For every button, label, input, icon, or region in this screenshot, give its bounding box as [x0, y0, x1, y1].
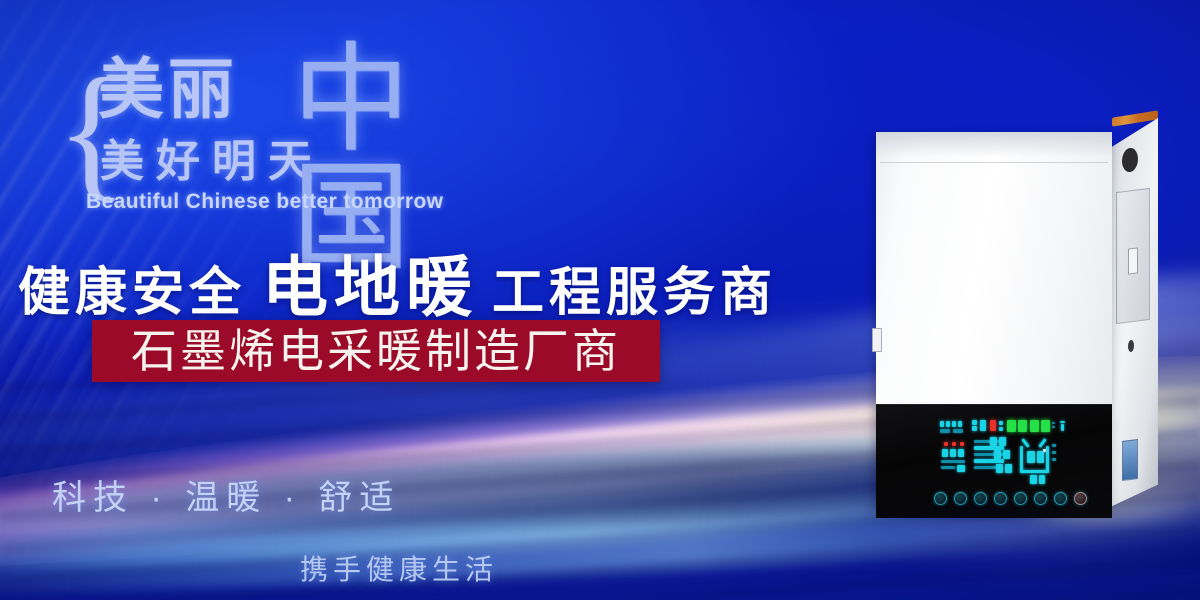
product-left-clip: [872, 328, 882, 352]
headline-part-three: 工程服务商: [492, 264, 777, 322]
red-banner-text: 石墨烯电采暖制造厂商: [131, 328, 621, 374]
product-image-electric-boiler: [876, 118, 1156, 508]
brand-logo: { 美丽 美好明天 中国 Beautiful Chinese better to…: [56, 48, 486, 228]
lcd-display: [938, 420, 1066, 486]
product-control-panel: [876, 404, 1112, 518]
logo-english-tagline: Beautiful Chinese better tomorrow: [86, 190, 443, 214]
tagline-secondary: 携手健康生活: [300, 548, 498, 588]
product-front-top-shade: [876, 132, 1112, 158]
product-front-face: [876, 132, 1112, 504]
headline-part-one: 健康安全: [18, 264, 246, 322]
headline-part-emphasis: 电地暖: [262, 258, 478, 316]
logo-china-characters: 中国: [292, 42, 486, 278]
product-drop-shadow: [866, 504, 1136, 522]
red-banner: 石墨烯电采暖制造厂商: [92, 320, 660, 382]
product-side-switch: [1128, 247, 1138, 274]
logo-line-secondary: 美好明天: [100, 140, 324, 184]
logo-line-primary: 美丽: [98, 56, 238, 122]
tagline-primary: 科技 · 温暖 · 舒适: [52, 470, 400, 519]
promotional-banner: { 美丽 美好明天 中国 Beautiful Chinese better to…: [0, 0, 1200, 600]
headline: 健康安全 电地暖 工程服务商: [18, 258, 777, 322]
product-side-slot: [1122, 439, 1138, 481]
product-front-seam: [880, 162, 1108, 163]
